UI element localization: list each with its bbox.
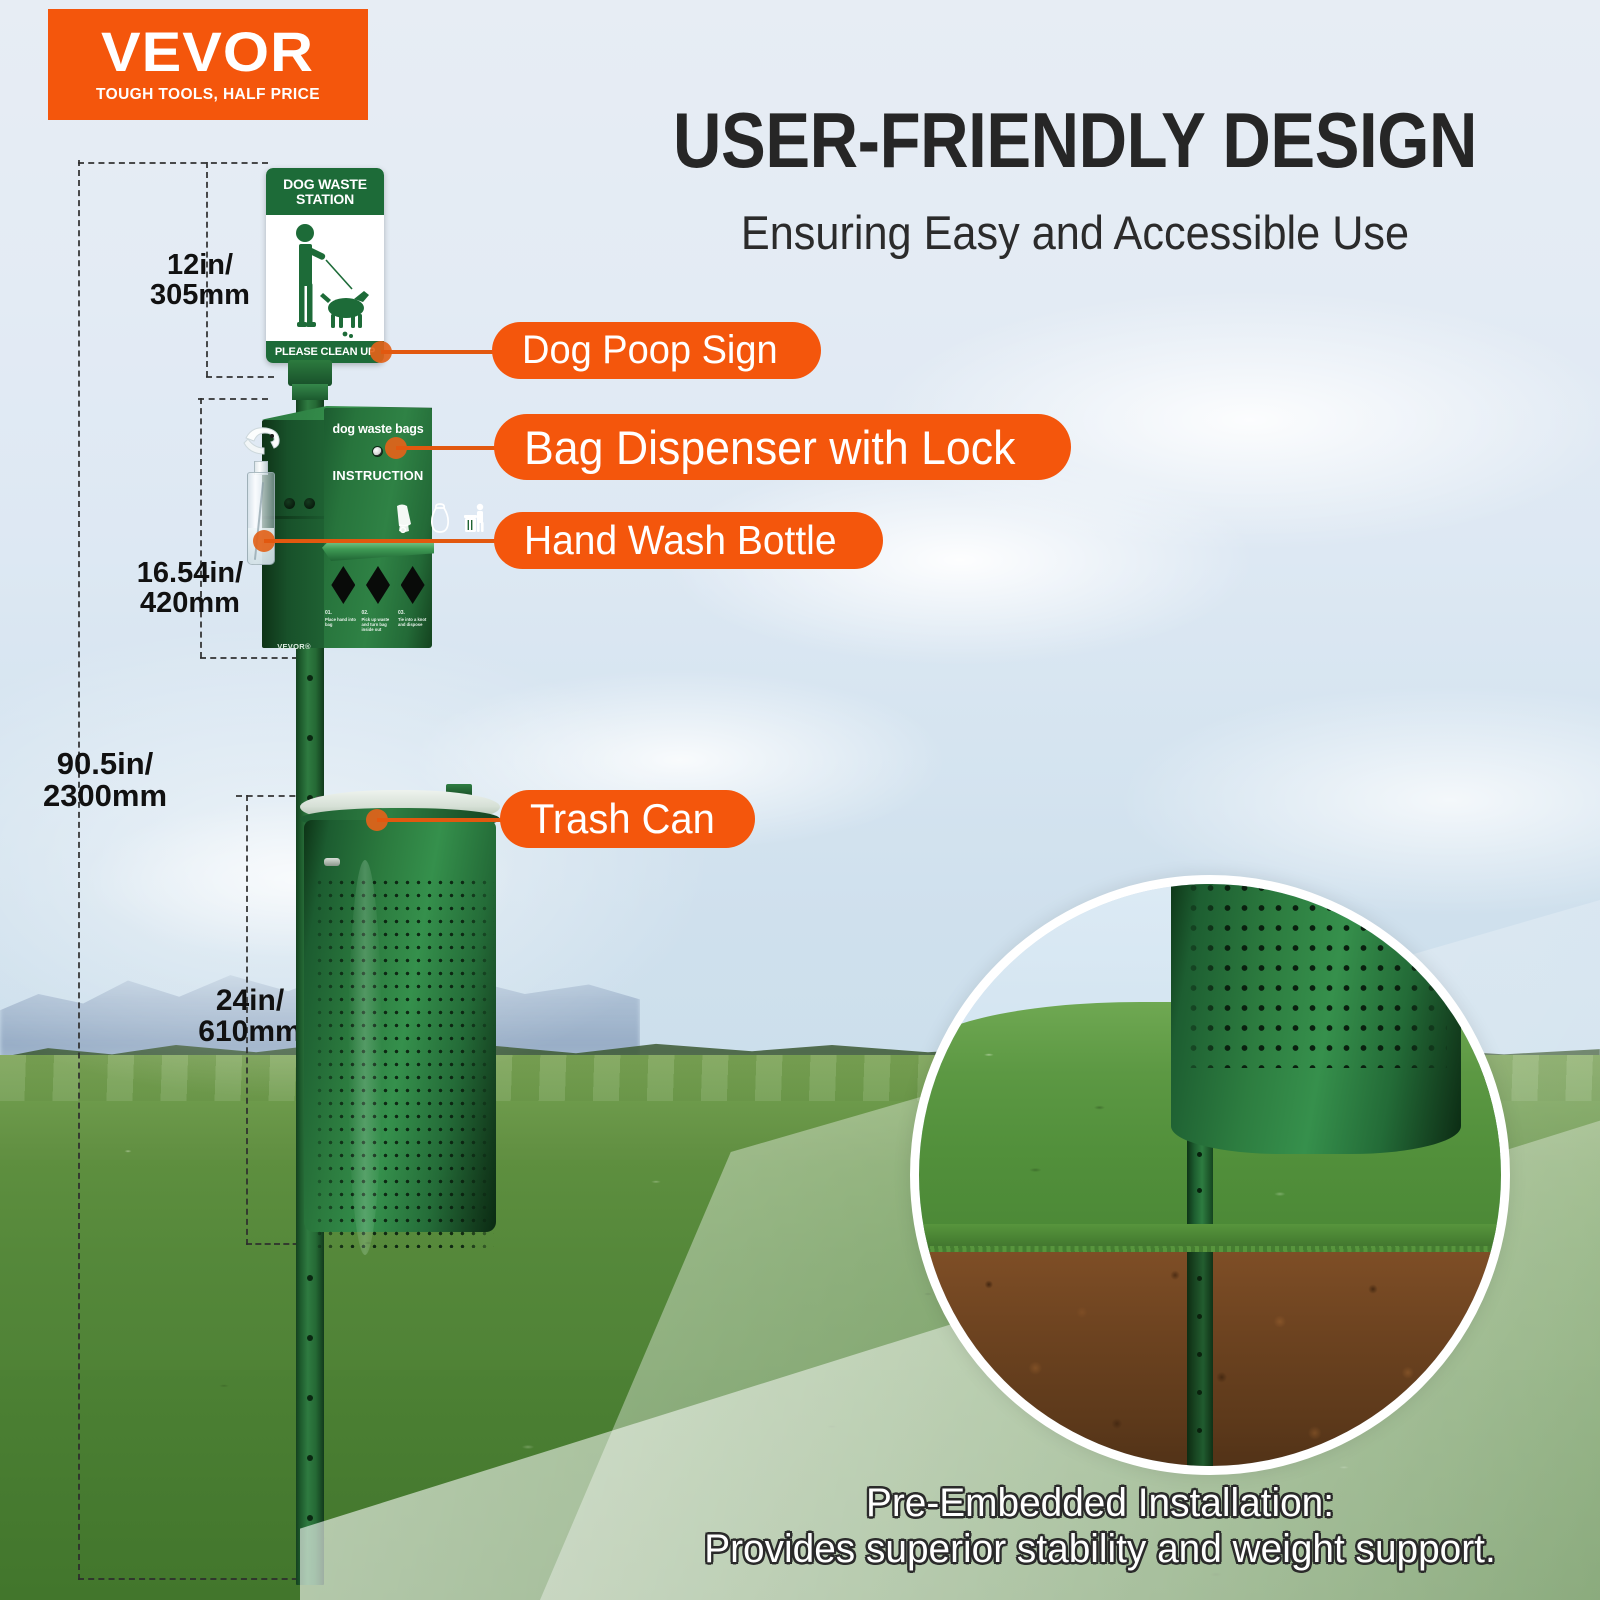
bag-slots <box>326 566 430 604</box>
sign-title-line1: DOG WASTE <box>283 177 367 192</box>
footer-caption: Pre-Embedded Installation: Provides supe… <box>600 1480 1600 1573</box>
trash-can <box>300 790 500 1240</box>
instruction-icons <box>386 500 494 534</box>
dispose-in-bin-icon <box>463 502 489 534</box>
instruction-step: 03. Tie into a knot and dispose <box>398 610 431 633</box>
dispenser-instruction-title: INSTRUCTION <box>324 468 432 483</box>
can-highlight <box>348 860 382 1255</box>
step-number: 01. <box>325 610 358 616</box>
bag-slot[interactable] <box>331 566 355 604</box>
sign-footer-text: PLEASE CLEAN UP <box>275 346 375 358</box>
instruction-step: 02. Pick up waste and turn bag inside ou… <box>362 610 395 633</box>
can-bolt <box>324 858 340 866</box>
dispenser-brand-mark: VEVOR® <box>266 642 322 651</box>
lock-icon[interactable] <box>372 446 383 457</box>
callout-dog-poop-sign[interactable]: Dog Poop Sign <box>492 322 821 379</box>
tied-bag-icon <box>428 502 452 534</box>
dispenser-header-text: dog waste bags <box>324 422 432 436</box>
sign-mount-bracket <box>288 360 332 386</box>
bag-slot[interactable] <box>401 566 425 604</box>
instruction-steps: 01. Place hand into bag 02. Pick up wast… <box>325 610 431 633</box>
callout-label: Trash Can <box>530 795 715 843</box>
sign-title-line2: STATION <box>296 192 354 207</box>
instruction-step: 01. Place hand into bag <box>325 610 358 633</box>
callout-trash-can[interactable]: Trash Can <box>500 790 755 848</box>
step-text: Tie into a knot and dispose <box>398 617 426 627</box>
step-number: 02. <box>362 610 395 616</box>
footer-caption-line1: Pre-Embedded Installation: <box>615 1480 1585 1526</box>
step-text: Place hand into bag <box>325 617 356 627</box>
trash-can-body <box>304 820 496 1232</box>
step-number: 03. <box>398 610 431 616</box>
callout-bag-dispenser[interactable]: Bag Dispenser with Lock <box>494 414 1071 480</box>
perforation-pattern <box>314 876 494 1248</box>
step-text: Pick up waste and turn bag inside out <box>362 617 390 633</box>
callout-label: Bag Dispenser with Lock <box>524 420 1015 475</box>
inset-post-below-ground <box>1187 1252 1213 1475</box>
hand-in-bag-icon <box>391 502 417 534</box>
sign-header: DOG WASTE STATION <box>266 168 384 215</box>
callout-label: Dog Poop Sign <box>522 328 778 373</box>
inset-turf-line <box>919 1224 1501 1254</box>
spray-trigger-head <box>242 426 284 466</box>
inset-perforation-pattern <box>1185 878 1447 1068</box>
callout-hand-wash-bottle[interactable]: Hand Wash Bottle <box>494 512 883 569</box>
footer-caption-line2: Provides superior stability and weight s… <box>615 1526 1585 1572</box>
bag-slot[interactable] <box>366 566 390 604</box>
callout-leader-trash-can <box>377 818 517 822</box>
dispenser-side-hole <box>304 498 315 509</box>
dog-waste-station-sign: DOG WASTE STATION <box>266 168 384 363</box>
pre-embedded-installation-inset <box>910 875 1510 1475</box>
person-walking-dog-icon <box>266 215 384 341</box>
callout-label: Hand Wash Bottle <box>524 517 836 564</box>
inset-trash-can <box>1171 875 1461 1154</box>
callout-leader-hand-wash-bottle <box>264 539 512 543</box>
infographic-canvas: VEVOR TOUGH TOOLS, HALF PRICE USER-FRIEN… <box>0 0 1600 1600</box>
bag-dispenser: VEVOR® dog waste bags INSTRUCTION <box>262 398 432 648</box>
